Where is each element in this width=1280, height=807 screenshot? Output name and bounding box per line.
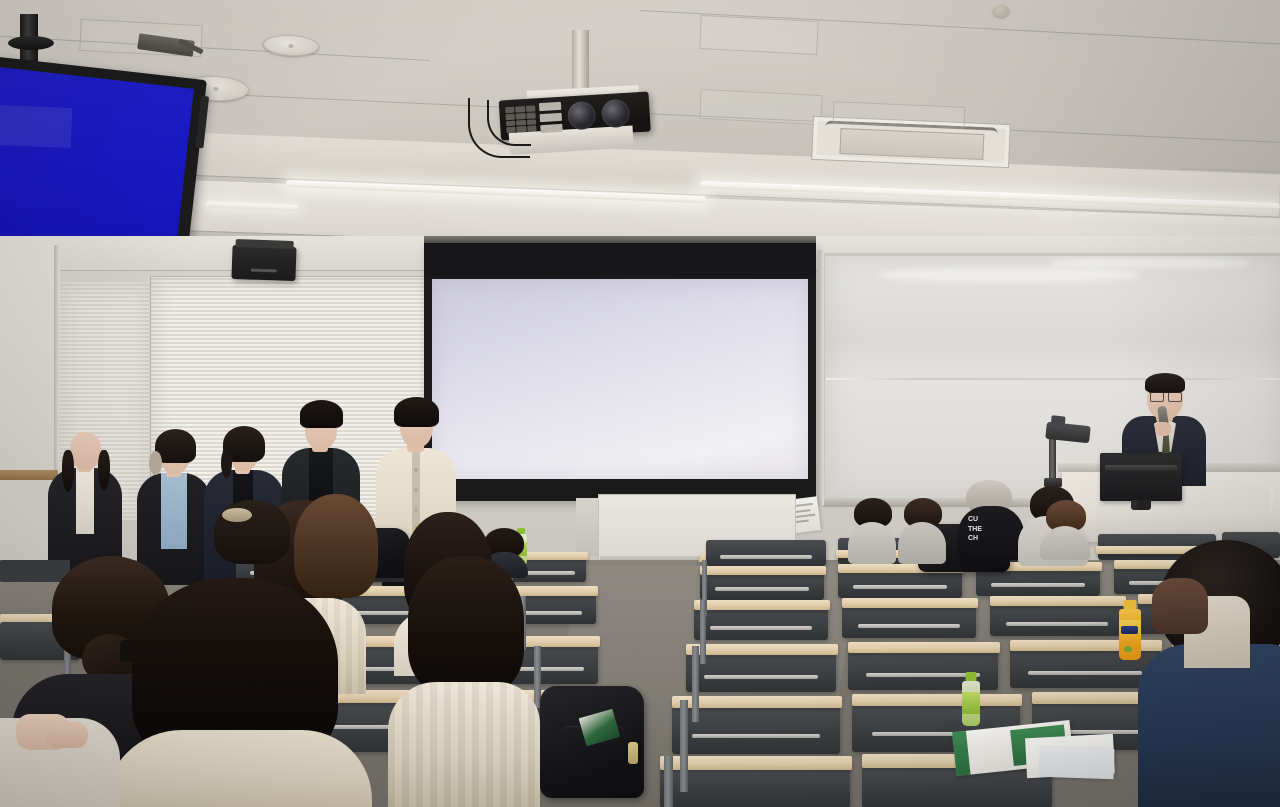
- hair: [408, 556, 524, 694]
- podium-monitor: [1100, 453, 1182, 501]
- audience-front-centre: [104, 578, 372, 807]
- podium-mic-holder: [1131, 500, 1137, 509]
- seat-back: [686, 652, 836, 692]
- cable-knit-sweater: [388, 682, 540, 807]
- whiteboard-left-frame: [818, 250, 824, 506]
- audience-person: [1040, 500, 1090, 556]
- desk-surface: [842, 598, 978, 608]
- paper-handouts: [1039, 747, 1114, 780]
- ceiling-tile: [699, 15, 819, 55]
- speaker-hair: [1145, 373, 1185, 393]
- presenter-3-hair-side: [221, 448, 232, 478]
- seat-back: [660, 768, 850, 807]
- presenter-5-hair: [394, 397, 439, 427]
- presenter-4-hair: [300, 400, 343, 428]
- projection-screen-surface: [432, 279, 808, 479]
- bottle-label-leaf: [1124, 646, 1132, 652]
- whiteboard-smudge: [880, 268, 1140, 282]
- audience-head-behind: [1152, 578, 1208, 634]
- audience-navy-sweater: [1138, 540, 1280, 807]
- presenter-1-face: [70, 432, 101, 470]
- desk-surface: [848, 642, 1000, 653]
- desk-leg: [700, 600, 706, 664]
- seat-back: [842, 604, 976, 638]
- audience-top: [848, 522, 896, 564]
- presenter-2-shirt: [161, 473, 187, 549]
- audience-top: [1040, 526, 1090, 560]
- monitor-mount-cap: [8, 36, 54, 50]
- seat-back: [694, 606, 828, 640]
- desk-leg: [680, 700, 688, 792]
- sprinkler-icon: [993, 5, 1009, 17]
- button-icon: [414, 488, 418, 492]
- audience-front-right: [388, 556, 540, 807]
- keychain-icon: [628, 742, 638, 764]
- wall-speaker: [231, 245, 296, 281]
- seat-back: [990, 602, 1124, 636]
- presenter-1-hair-side: [62, 450, 74, 492]
- desk-surface: [694, 600, 830, 610]
- bottle-label-logo: [1121, 626, 1138, 634]
- lecture-hall-photo: Panasonic: [0, 0, 1280, 807]
- desk-surface: [852, 694, 1022, 706]
- whiteboard-smudge: [1050, 258, 1250, 268]
- audience-hands: [46, 722, 88, 748]
- cream-coat: [104, 730, 372, 807]
- desk-surface: [686, 644, 838, 655]
- desk-surface: [990, 596, 1126, 606]
- audience-person: [848, 498, 896, 560]
- audience-person: [898, 498, 946, 560]
- ceiling-tile: [699, 89, 822, 125]
- green-tea-bottle: [962, 672, 980, 726]
- projection-screen: [424, 243, 816, 501]
- glasses-lens-right: [1168, 392, 1182, 402]
- audience-hoodie: CU THE CH: [958, 492, 1024, 558]
- desk-surface: [700, 566, 826, 575]
- hoodie-text: CU THE CH: [968, 516, 992, 542]
- hair-clip-icon: [149, 451, 162, 475]
- hair-scrunchie-icon: [222, 508, 252, 522]
- navy-sweater: [1138, 644, 1280, 807]
- desk-leg: [692, 646, 699, 722]
- glasses-lens-left: [1150, 392, 1164, 402]
- whiteboard-divider: [826, 378, 1280, 380]
- desk-leg: [664, 756, 673, 807]
- seat-back: [706, 540, 826, 566]
- button-icon: [414, 468, 418, 472]
- speaker-hand: [1155, 422, 1171, 436]
- audience-top: [898, 522, 946, 564]
- desk-surface: [660, 756, 852, 770]
- presenter-1-hair-side: [98, 450, 110, 490]
- presenter-1-shirt: [76, 468, 94, 534]
